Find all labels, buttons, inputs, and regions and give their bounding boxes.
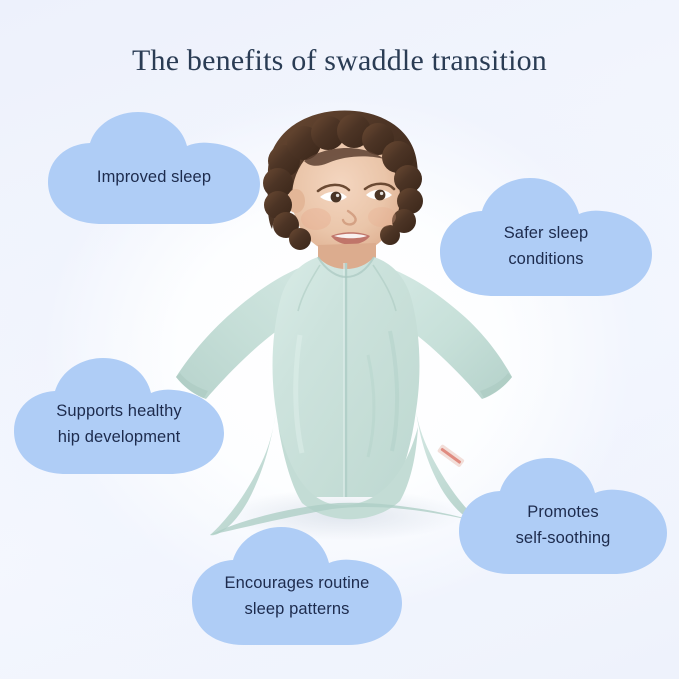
benefit-label-hip-development: Supports healthy hip development — [8, 358, 230, 474]
benefit-label-sleep-patterns: Encourages routine sleep patterns — [186, 527, 408, 645]
benefit-cloud-hip-development: Supports healthy hip development — [8, 358, 230, 474]
page-title: The benefits of swaddle transition — [0, 44, 679, 78]
benefit-label-improved-sleep: Improved sleep — [42, 112, 266, 224]
benefit-label-self-soothing: Promotes self-soothing — [454, 458, 672, 574]
benefit-cloud-self-soothing: Promotes self-soothing — [454, 458, 672, 574]
infographic-canvas: The benefits of swaddle transition — [0, 0, 679, 679]
benefit-cloud-safer-sleep: Safer sleep conditions — [434, 178, 658, 296]
benefit-label-safer-sleep: Safer sleep conditions — [434, 178, 658, 296]
benefit-cloud-sleep-patterns: Encourages routine sleep patterns — [186, 527, 408, 645]
benefit-cloud-improved-sleep: Improved sleep — [42, 112, 266, 224]
